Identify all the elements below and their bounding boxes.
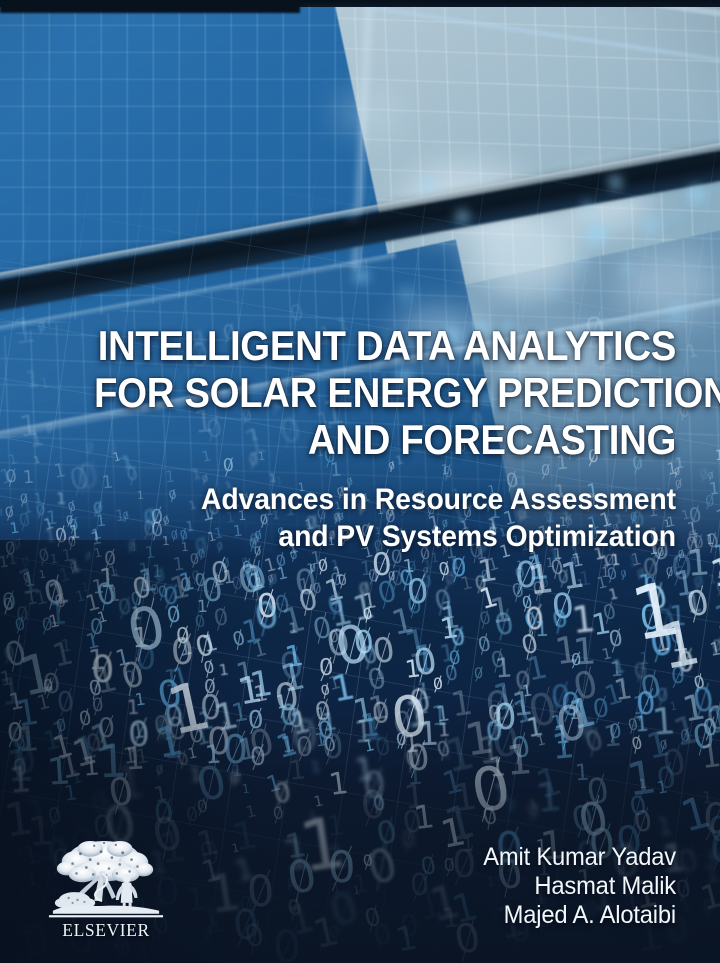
title-line-2: FOR SOLAR ENERGY PREDICTION xyxy=(94,369,676,416)
subtitle-line-2: and PV Systems Optimization xyxy=(75,518,676,555)
book-cover: 1111111011110001011111011011011000001110… xyxy=(0,0,720,963)
cover-text-block: INTELLIGENT DATA ANALYTICS FOR SOLAR ENE… xyxy=(0,0,720,963)
author-name: Majed A. Alotaibi xyxy=(319,901,676,930)
book-subtitle: Advances in Resource Assessment and PV S… xyxy=(75,481,676,555)
publisher-name: ELSEVIER xyxy=(47,922,165,940)
elsevier-tree-icon xyxy=(47,838,165,921)
author-name: Hasmat Malik xyxy=(319,872,676,901)
title-line-3: AND FORECASTING xyxy=(94,416,676,463)
book-title: INTELLIGENT DATA ANALYTICS FOR SOLAR ENE… xyxy=(94,322,676,463)
author-name: Amit Kumar Yadav xyxy=(319,843,676,872)
author-list: Amit Kumar Yadav Hasmat Malik Majed A. A… xyxy=(319,843,676,930)
title-line-1: INTELLIGENT DATA ANALYTICS xyxy=(94,322,676,369)
subtitle-line-1: Advances in Resource Assessment xyxy=(75,481,676,518)
publisher-logo: ELSEVIER xyxy=(47,838,165,934)
